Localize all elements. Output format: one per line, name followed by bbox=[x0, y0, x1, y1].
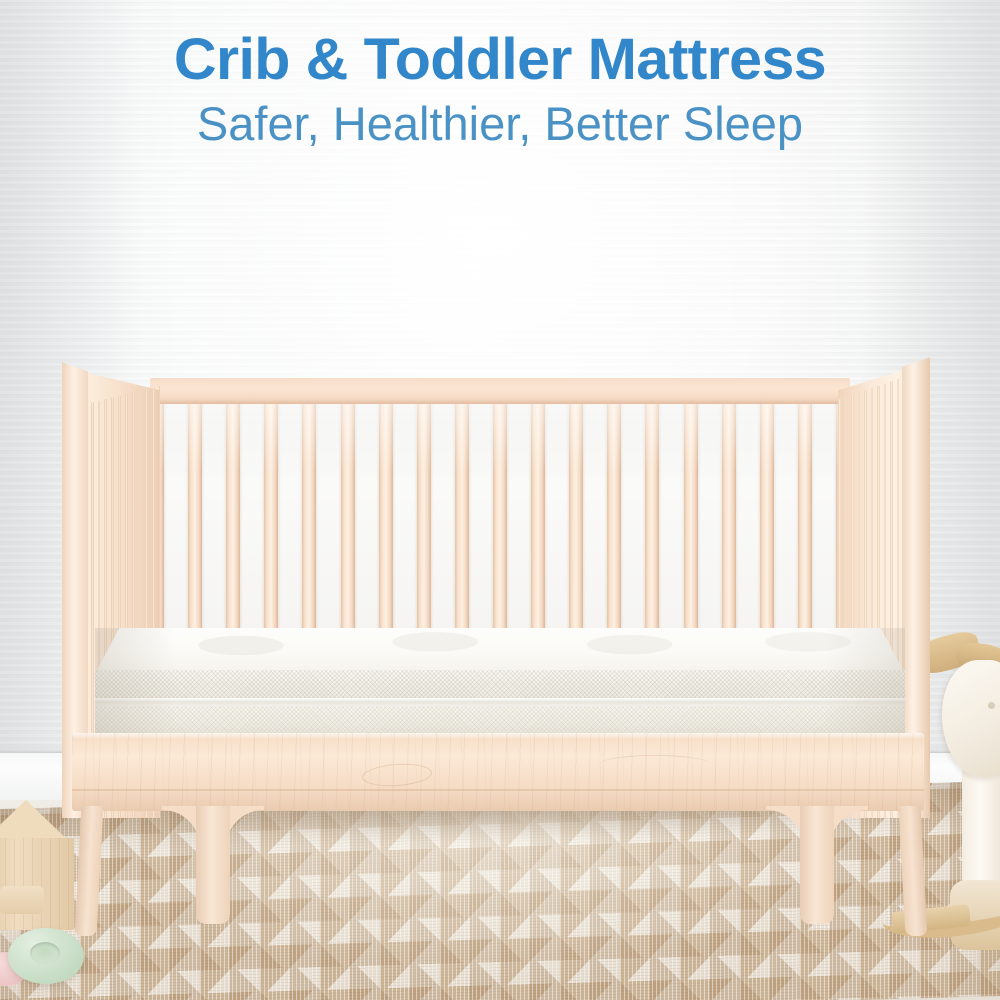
crib-slat bbox=[798, 396, 812, 646]
crib-slat bbox=[417, 396, 431, 646]
crib-slat bbox=[645, 396, 659, 646]
crib-front-base-rail bbox=[72, 733, 924, 811]
base-rail-seam bbox=[72, 789, 924, 791]
crib-slat bbox=[455, 396, 469, 646]
crib-slat bbox=[302, 396, 316, 646]
mattress-shading bbox=[95, 628, 905, 736]
crib-slat bbox=[341, 396, 355, 646]
crib-back-top-rail bbox=[150, 378, 850, 404]
product-hero-image: Crib & Toddler Mattress Safer, Healthier… bbox=[0, 0, 1000, 1000]
crib-leg-outer-left bbox=[75, 806, 104, 936]
crib-slat bbox=[684, 396, 698, 646]
page-subtitle: Safer, Healthier, Better Sleep bbox=[0, 99, 1000, 148]
crib-slat bbox=[760, 396, 774, 646]
wooden-crib bbox=[0, 0, 1000, 1000]
crib-leg-inner-right bbox=[800, 806, 834, 924]
base-rail-wood-grain bbox=[72, 733, 924, 811]
crib-slat bbox=[379, 396, 393, 646]
crib-slat bbox=[607, 396, 621, 646]
crib-leg-outer-right bbox=[899, 806, 928, 936]
page-title: Crib & Toddler Mattress bbox=[0, 30, 1000, 89]
wood-knot bbox=[600, 755, 710, 773]
crib-slat bbox=[264, 396, 278, 646]
crib-mattress bbox=[95, 628, 905, 736]
crib-slat bbox=[493, 396, 507, 646]
hero-text-block: Crib & Toddler Mattress Safer, Healthier… bbox=[0, 0, 1000, 149]
crib-slat bbox=[226, 396, 240, 646]
crib-slat bbox=[722, 396, 736, 646]
crib-leg-inner-left bbox=[196, 806, 230, 924]
crib-slat bbox=[188, 396, 202, 646]
crib-slat bbox=[569, 396, 583, 646]
crib-slat bbox=[531, 396, 545, 646]
crib-back-slats bbox=[150, 396, 850, 646]
